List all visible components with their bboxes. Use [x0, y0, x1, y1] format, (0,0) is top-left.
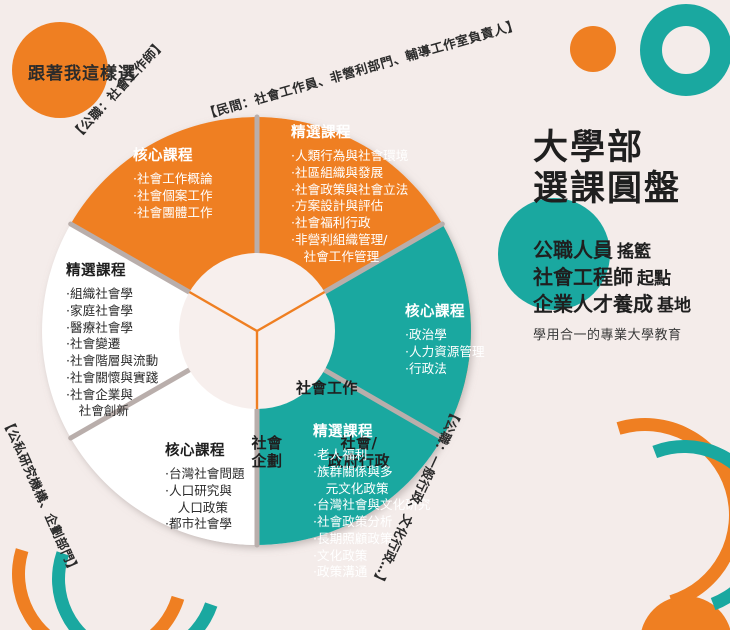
segment-list-plan-elective: ·組織社會學 ·家庭社會學 ·醫療社會學 ·社會變遷 ·社會階層與流動 ·社會關… — [66, 286, 158, 420]
decor-orange-dot-icon — [570, 26, 616, 72]
tagline-suffix: 起點 — [637, 269, 671, 289]
course-item: ·都市社會學 — [165, 516, 245, 533]
tagline-bold: 公職人員 — [533, 238, 613, 262]
segment-list-teal-core: ·政治學 ·人力資源管理 ·行政法 — [405, 327, 485, 377]
course-item: ·人力資源管理 — [405, 344, 485, 361]
segment-title-plan-core: 核心課程 — [165, 442, 245, 461]
segment-text-sw-elective: 精選課程 ·人類行為與社會環境 ·社區組織與發展 ·社會政策與社會立法 ·方案設… — [291, 124, 408, 265]
course-item: ·族群關係與多 — [313, 464, 430, 481]
course-item: ·社會變遷 — [66, 336, 158, 353]
course-item: 社會創新 — [66, 403, 158, 420]
segment-text-plan-core: 核心課程 ·台灣社會問題 ·人口研究與 人口政策 ·都市社會學 — [165, 442, 245, 533]
course-item: ·非營利組織管理/ — [291, 232, 408, 249]
course-item: ·長期照顧政策 — [313, 531, 430, 548]
tagline-suffix: 基地 — [657, 296, 691, 316]
course-item: ·老人福利 — [313, 447, 430, 464]
decor-teal-ring-icon — [640, 4, 730, 96]
hub-label-social-planning-line2: 企劃 — [236, 452, 298, 470]
course-item: ·社區組織與發展 — [291, 165, 408, 182]
course-item: ·社會福利行政 — [291, 215, 408, 232]
course-item: ·社會工作概論 — [133, 171, 213, 188]
hub-label-social-planning-line1: 社會 — [236, 434, 298, 452]
course-item: ·醫療社會學 — [66, 320, 158, 337]
course-item: ·社會關懷與實踐 — [66, 370, 158, 387]
segment-text-sw-core: 核心課程 ·社會工作概論 ·社會個案工作 ·社會團體工作 — [133, 147, 213, 221]
segment-title-teal-elective: 精選課程 — [313, 423, 430, 442]
page-title-line1: 大學部 — [533, 128, 729, 169]
tagline-bold: 企業人才養成 — [533, 292, 653, 316]
course-item: 人口政策 — [165, 500, 245, 517]
course-item: ·人類行為與社會環境 — [291, 148, 408, 165]
course-item: ·文化政策 — [313, 548, 430, 565]
panel-footnote: 學用合一的專業大學教育 — [533, 324, 729, 343]
course-item: ·人口研究與 — [165, 483, 245, 500]
tagline-item: 公職人員搖籃 — [533, 237, 729, 264]
infographic-canvas: 跟著我這樣選 — [0, 0, 730, 630]
course-item: ·政治學 — [405, 327, 485, 344]
tagline-item: 社會工程師起點 — [533, 264, 729, 291]
course-item: ·社會個案工作 — [133, 188, 213, 205]
hub-label-social-work: 社會工作 — [274, 379, 380, 397]
follow-heading: 跟著我這樣選 — [28, 59, 136, 84]
tagline-suffix: 搖籃 — [617, 242, 651, 262]
course-item: ·家庭社會學 — [66, 303, 158, 320]
page-title-line2: 選課圓盤 — [533, 169, 729, 210]
course-item: 社會工作管理 — [291, 249, 408, 266]
right-info-panel: 大學部 選課圓盤 公職人員搖籃 社會工程師起點 企業人才養成基地 學用合一的專業… — [533, 128, 729, 343]
course-item: ·組織社會學 — [66, 286, 158, 303]
tagline-item: 企業人才養成基地 — [533, 291, 729, 318]
course-item: ·行政法 — [405, 361, 485, 378]
segment-list-plan-core: ·台灣社會問題 ·人口研究與 人口政策 ·都市社會學 — [165, 466, 245, 533]
segment-list-sw-core: ·社會工作概論 ·社會個案工作 ·社會團體工作 — [133, 171, 213, 221]
course-item: ·台灣社會問題 — [165, 466, 245, 483]
segment-title-plan-elective: 精選課程 — [66, 262, 158, 281]
hub-label-social-planning: 社會 企劃 — [236, 434, 298, 470]
segment-title-sw-elective: 精選課程 — [291, 124, 408, 143]
course-item: ·方案設計與評估 — [291, 198, 408, 215]
course-item: ·社會團體工作 — [133, 205, 213, 222]
segment-list-sw-elective: ·人類行為與社會環境 ·社區組織與發展 ·社會政策與社會立法 ·方案設計與評估 … — [291, 148, 408, 265]
tagline-list: 公職人員搖籃 社會工程師起點 企業人才養成基地 — [533, 237, 729, 318]
segment-text-plan-elective: 精選課程 ·組織社會學 ·家庭社會學 ·醫療社會學 ·社會變遷 ·社會階層與流動… — [66, 262, 158, 420]
segment-title-teal-core: 核心課程 — [405, 303, 485, 322]
segment-text-teal-core: 核心課程 ·政治學 ·人力資源管理 ·行政法 — [405, 303, 485, 377]
segment-title-sw-core: 核心課程 — [133, 147, 213, 166]
course-item: ·社會企業與 — [66, 387, 158, 404]
tagline-bold: 社會工程師 — [533, 265, 633, 289]
course-item: ·社會政策與社會立法 — [291, 182, 408, 199]
course-item: ·社會階層與流動 — [66, 353, 158, 370]
